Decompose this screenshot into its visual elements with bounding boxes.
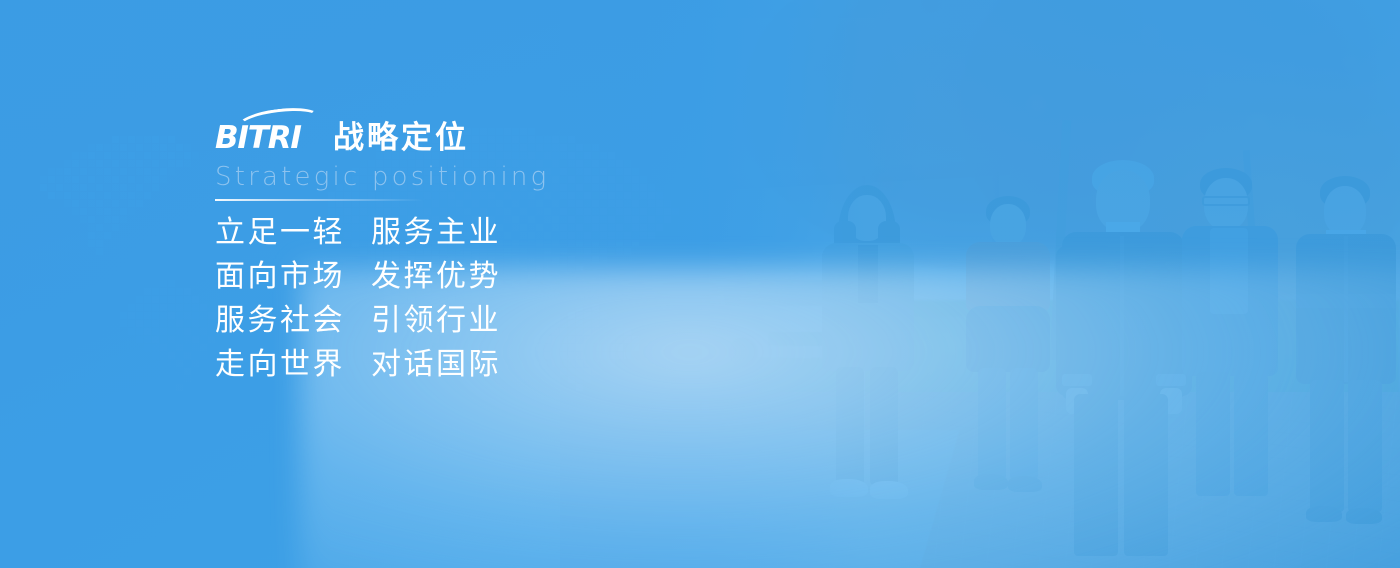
slogan-list: 立足一轻服务主业面向市场发挥优势服务社会引领行业走向世界对话国际 [215,218,635,380]
slogan-left: 立足一轻 [215,218,345,248]
slogan-line: 走向世界对话国际 [215,350,635,380]
divider [215,199,423,201]
slogan-gap [345,306,371,336]
logo-row: BITRI 战略定位 [215,108,635,154]
subtitle: Strategic positioning [215,163,635,192]
slogan-left: 走向世界 [215,350,345,380]
banner-copy: BITRI 战略定位 Strategic positioning 立足一轻服务主… [215,108,635,394]
slogan-right: 发挥优势 [371,262,501,292]
strategic-positioning-banner: BITRI 战略定位 Strategic positioning 立足一轻服务主… [0,0,1400,568]
slogan-gap [345,218,371,248]
bitri-logo: BITRI [215,114,319,154]
slogan-left: 面向市场 [215,262,345,292]
slogan-gap [345,262,371,292]
page-title: 战略定位 [333,123,469,154]
slogan-gap [345,350,371,380]
bitri-logo-text: BITRI [215,123,301,154]
slogan-line: 面向市场发挥优势 [215,262,635,292]
slogan-right: 服务主业 [371,218,501,248]
slogan-left: 服务社会 [215,306,345,336]
slogan-right: 引领行业 [371,306,501,336]
slogan-right: 对话国际 [371,350,501,380]
slogan-line: 立足一轻服务主业 [215,218,635,248]
slogan-line: 服务社会引领行业 [215,306,635,336]
